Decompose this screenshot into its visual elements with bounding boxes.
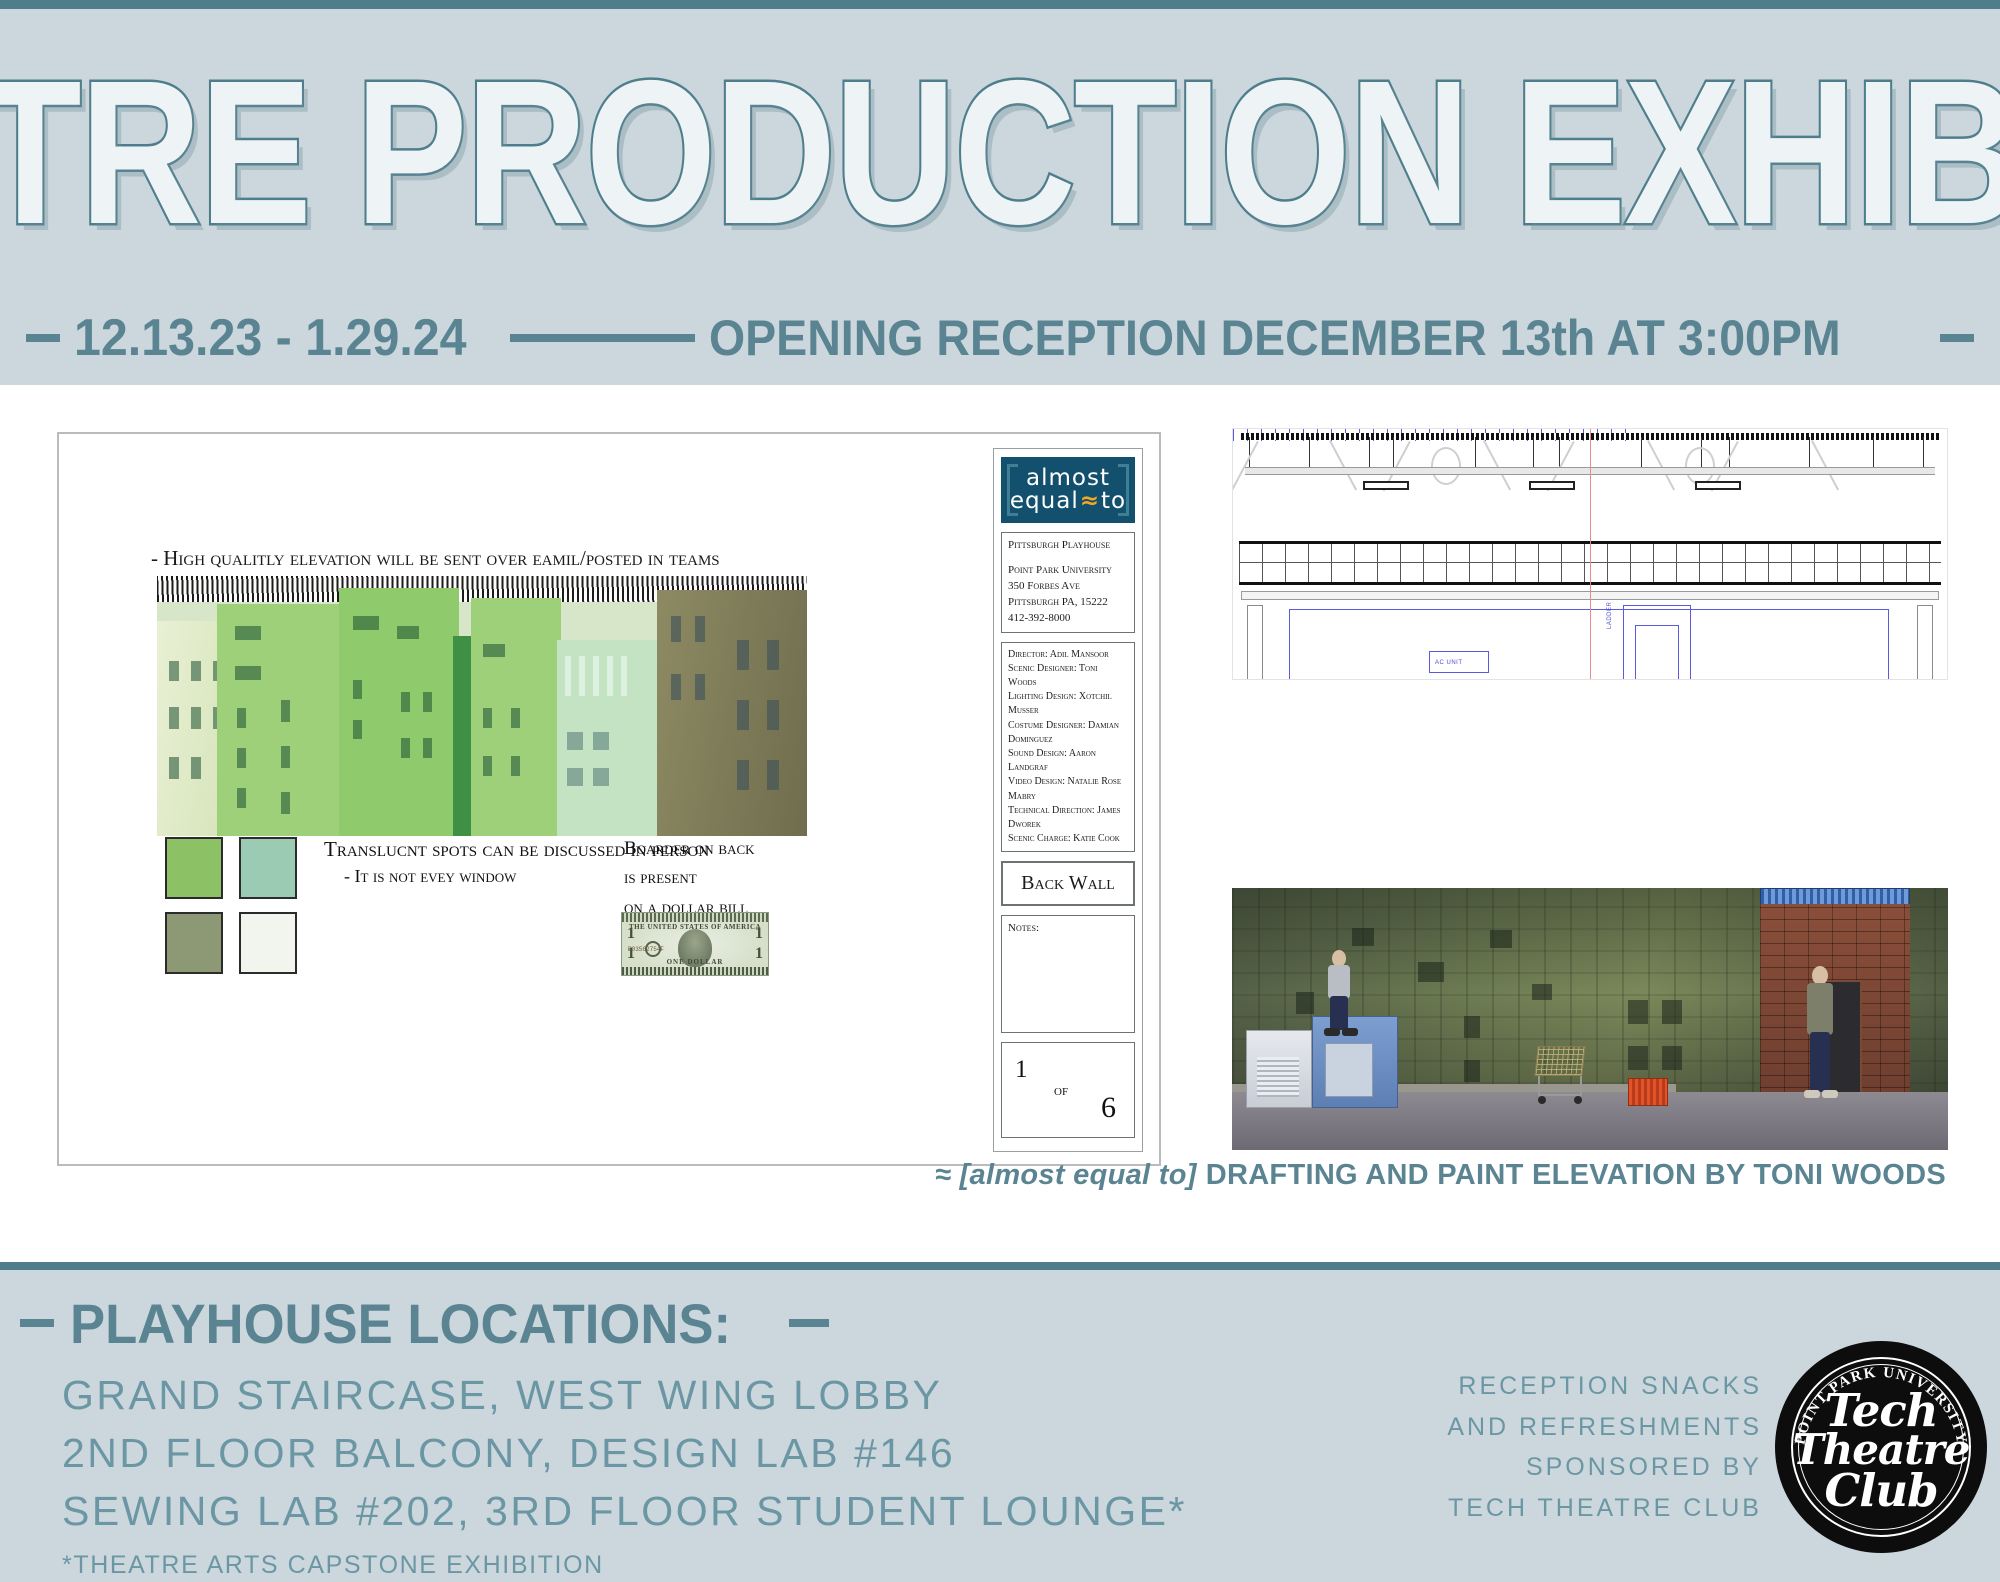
photo-shopping-cart-prop bbox=[1532, 1046, 1588, 1104]
cad-section-drawing: AC UNIT LADDER bbox=[1232, 428, 1948, 680]
credit-technical-direction: Technical Direction: James Dworek bbox=[1008, 804, 1128, 832]
approx-icon: ≈ bbox=[1079, 490, 1101, 513]
caption-main-part: DRAFTING AND PAINT ELEVATION BY TONI WOO… bbox=[1206, 1159, 1946, 1192]
rule-left bbox=[26, 334, 60, 342]
logo-equal-text: equal bbox=[1010, 490, 1079, 513]
sheet-total: 6 bbox=[1101, 1086, 1116, 1130]
sponsor-line-3: SPONSORED BY bbox=[1402, 1447, 1762, 1488]
credit-scenic-designer: Scenic Designer: Toni Woods bbox=[1008, 662, 1128, 690]
building-5 bbox=[471, 598, 561, 836]
sponsor-line-1: RECEPTION SNACKS bbox=[1402, 1366, 1762, 1407]
venue-name: Pittsburgh Playhouse bbox=[1008, 538, 1128, 554]
cad-label-ladder: LADDER bbox=[1607, 602, 1613, 629]
cad-side-wall-left bbox=[1247, 605, 1263, 680]
cad-side-wall-right bbox=[1917, 605, 1933, 680]
sheet-number: 1 bbox=[1015, 1052, 1028, 1088]
logo-bracket-left-icon bbox=[1007, 464, 1018, 516]
notes-box: Notes: bbox=[1001, 915, 1135, 1033]
building-2 bbox=[217, 604, 347, 836]
venue-address-box: Pittsburgh Playhouse Point Park Universi… bbox=[1001, 532, 1135, 633]
production-photo bbox=[1232, 888, 1948, 1150]
photo-blue-box-panel bbox=[1325, 1043, 1373, 1097]
address-phone: 412-392-8000 bbox=[1008, 611, 1128, 627]
photo-cart-wheel-left bbox=[1538, 1096, 1546, 1104]
sponsor-text: RECEPTION SNACKS AND REFRESHMENTS SPONSO… bbox=[1402, 1366, 1762, 1528]
actor-seated-shoe-right bbox=[1342, 1028, 1358, 1036]
photo-actor-standing bbox=[1802, 966, 1842, 1106]
locations-list: GRAND STAIRCASE, WEST WING LOBBY 2ND FLO… bbox=[62, 1366, 1212, 1580]
building-8-brown bbox=[657, 590, 807, 836]
cad-set-outline bbox=[1289, 609, 1889, 680]
footer-rule-left bbox=[20, 1319, 54, 1327]
actor-standing-shoe-left bbox=[1804, 1090, 1820, 1098]
opening-reception-text: OPENING RECEPTION DECEMBER 13th AT 3:00P… bbox=[709, 309, 1841, 367]
photo-ac-vent bbox=[1257, 1057, 1299, 1097]
logo-script-line-3: Club bbox=[1778, 1470, 1984, 1511]
cad-ladder-opening bbox=[1635, 625, 1679, 680]
cad-light-fixture-2 bbox=[1529, 481, 1575, 490]
credit-video-design: Video Design: Natalie Rose Mabry bbox=[1008, 775, 1128, 803]
sponsor-line-4: TECH THEATRE CLUB bbox=[1402, 1488, 1762, 1529]
address-line-3: Pittsburgh PA, 15222 bbox=[1008, 595, 1128, 611]
actor-seated-shoe-left bbox=[1324, 1028, 1340, 1036]
dollar-bill-image: THE UNITED STATES OF AMERICA 1 1 1 1 B03… bbox=[621, 912, 769, 976]
credit-lighting-design: Lighting Design: Xotchil Musser bbox=[1008, 690, 1128, 718]
cad-label-ac-unit: AC UNIT bbox=[1435, 660, 1463, 666]
dollar-top-border bbox=[622, 913, 768, 922]
credit-sound-design: Sound Design: Aaron Landgraf bbox=[1008, 747, 1128, 775]
almost-equal-to-logo: almost equal≈to bbox=[1001, 457, 1135, 523]
note-not-every-window: - It is not evey window bbox=[344, 866, 516, 887]
cad-centerline bbox=[1590, 429, 1591, 679]
exhibition-dates: 12.13.23 - 1.29.24 bbox=[74, 308, 467, 368]
swatch-olive-green bbox=[165, 912, 223, 974]
address-line-1: Point Park University bbox=[1008, 563, 1128, 579]
note-boarder-on-back: Boarder on back is present on a dollar b… bbox=[624, 834, 755, 922]
address-line-2: 350 Forbes Ave bbox=[1008, 579, 1128, 595]
caption-italic-part: ≈ [almost equal to] bbox=[935, 1159, 1197, 1192]
poster-title-wrap: THEATRE PRODUCTION EXHIBITION bbox=[0, 51, 2000, 256]
capstone-footnote: *THEATRE ARTS CAPSTONE EXHIBITION bbox=[62, 1551, 1212, 1580]
dollar-foot-label: ONE DOLLAR bbox=[622, 958, 768, 966]
artwork-caption: ≈ [almost equal to] DRAFTING AND PAINT E… bbox=[0, 1148, 2000, 1202]
logo-line-2: equal≈to bbox=[1010, 490, 1126, 513]
location-item-2: 2ND FLOOR BALCONY, DESIGN LAB #146 bbox=[62, 1424, 1212, 1482]
production-credits-box: Director: Adil Mansoor Scenic Designer: … bbox=[1001, 642, 1135, 853]
building-3 bbox=[339, 588, 459, 836]
actor-standing-torso bbox=[1807, 983, 1833, 1035]
cad-fan-2 bbox=[1685, 447, 1715, 485]
cad-fan-1 bbox=[1431, 447, 1461, 485]
playhouse-locations-title: PLAYHOUSE LOCATIONS: bbox=[70, 1291, 731, 1356]
sheet-of-label: of bbox=[1054, 1081, 1068, 1103]
cad-light-fixture-1 bbox=[1363, 481, 1409, 490]
page-title: THEATRE PRODUCTION EXHIBITION bbox=[0, 59, 2000, 248]
notes-label: Notes: bbox=[1008, 922, 1039, 934]
credit-costume-designer: Costume Designer: Damian Dominguez bbox=[1008, 719, 1128, 747]
sponsor-line-2: AND REFRESHMENTS bbox=[1402, 1407, 1762, 1448]
sheet-note-top: - High qualitly elevation will be sent o… bbox=[151, 546, 951, 571]
footer-rule-right bbox=[789, 1319, 829, 1327]
cad-light-fixture-3 bbox=[1695, 481, 1741, 490]
dollar-serial-number: B03562754F bbox=[628, 946, 664, 953]
note-boarder-line-1: Boarder on back bbox=[624, 834, 755, 863]
photo-orange-crate-prop bbox=[1628, 1078, 1668, 1106]
footer-title-row: PLAYHOUSE LOCATIONS: bbox=[20, 1292, 980, 1354]
rule-middle bbox=[510, 334, 695, 342]
actor-seated-legs bbox=[1330, 996, 1348, 1030]
photo-cart-basket bbox=[1534, 1046, 1585, 1076]
paint-elevation-image bbox=[157, 576, 807, 836]
location-item-1: GRAND STAIRCASE, WEST WING LOBBY bbox=[62, 1366, 1212, 1424]
note-boarder-line-2: is present bbox=[624, 863, 755, 892]
rule-right bbox=[1940, 334, 1974, 342]
plate-title-back-wall: Back Wall bbox=[1001, 861, 1135, 906]
dollar-numeral-top-left: 1 bbox=[627, 925, 635, 943]
actor-seated-torso bbox=[1328, 965, 1350, 999]
actor-standing-legs bbox=[1810, 1032, 1830, 1092]
footer-band: PLAYHOUSE LOCATIONS: GRAND STAIRCASE, WE… bbox=[0, 1262, 2000, 1582]
tech-theatre-club-logo: POINT PARK UNIVERSITY Tech Theatre Club bbox=[1778, 1344, 1984, 1550]
logo-line-1: almost bbox=[1026, 467, 1110, 490]
swatch-off-white bbox=[239, 912, 297, 974]
photo-ac-unit-prop bbox=[1246, 1030, 1312, 1108]
header-subrow: 12.13.23 - 1.29.24 OPENING RECEPTION DEC… bbox=[0, 307, 2000, 369]
photo-actor-seated bbox=[1324, 950, 1364, 1040]
header-band: THEATRE PRODUCTION EXHIBITION 12.13.23 -… bbox=[0, 0, 2000, 385]
logo-script-text: Tech Theatre Club bbox=[1778, 1390, 1984, 1511]
photo-cart-wheel-right bbox=[1574, 1096, 1582, 1104]
logo-bracket-right-icon bbox=[1118, 464, 1129, 516]
actor-standing-shoe-right bbox=[1822, 1090, 1838, 1098]
drawing-title-block: almost equal≈to Pittsburgh Playhouse Poi… bbox=[993, 448, 1143, 1152]
credit-director: Director: Adil Mansoor bbox=[1008, 648, 1128, 662]
photo-cart-frame bbox=[1538, 1076, 1582, 1096]
sheet-number-box: 1 of 6 bbox=[1001, 1042, 1135, 1138]
credit-scenic-charge: Scenic Charge: Katie Cook bbox=[1008, 832, 1128, 846]
dollar-bottom-border bbox=[622, 967, 768, 975]
swatch-light-green bbox=[165, 837, 223, 899]
swatch-sage-teal bbox=[239, 837, 297, 899]
address-spacer bbox=[1008, 554, 1128, 563]
location-item-3: SEWING LAB #202, 3RD FLOOR STUDENT LOUNG… bbox=[62, 1482, 1212, 1540]
drafting-sheet-panel: - High qualitly elevation will be sent o… bbox=[57, 432, 1161, 1166]
dollar-numeral-top-right: 1 bbox=[755, 925, 763, 943]
